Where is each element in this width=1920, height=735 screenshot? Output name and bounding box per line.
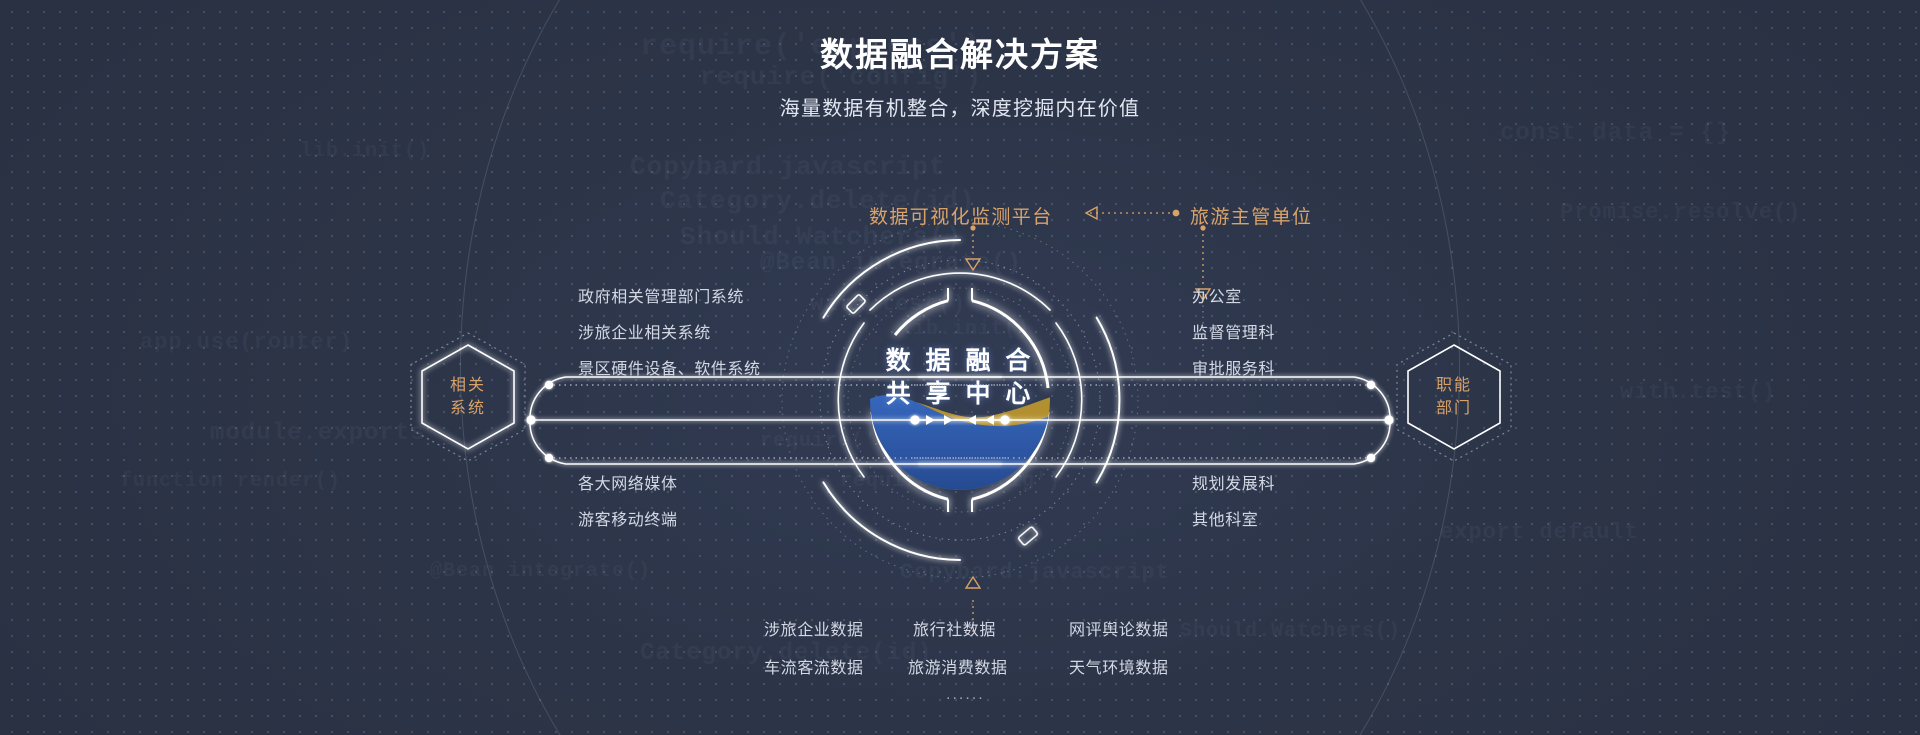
hexagon-right-label: 职能 部门 <box>1392 330 1516 464</box>
data-fusion-hub: 数 据 融 合 共 享 中 心 <box>760 200 1160 600</box>
background-code-line: const data = {} <box>1500 120 1731 147</box>
label-tourism-authority[interactable]: 旅游主管单位 <box>1190 202 1312 229</box>
background-code-line: @Bean integrate() <box>430 560 651 583</box>
label-visualization-platform[interactable]: 数据可视化监测平台 <box>869 202 1053 229</box>
label-right-upper-2[interactable]: 审批服务科 <box>1192 355 1275 379</box>
page-title: 数据融合解决方案 <box>0 34 1920 75</box>
hub-sphere <box>860 300 1060 500</box>
background-code-line: with.test() <box>1620 380 1776 405</box>
label-right-lower-1[interactable]: 其他科室 <box>1192 506 1258 530</box>
hexagon-functional-departments[interactable]: 职能 部门 <box>1392 330 1516 464</box>
background-code-line: Should.Watchers() <box>1180 620 1401 643</box>
label-left-upper-2[interactable]: 景区硬件设备、软件系统 <box>578 355 761 379</box>
label-bottom-r2-0[interactable]: 车流客流数据 <box>764 654 864 678</box>
label-left-lower-0[interactable]: 各大网络媒体 <box>578 470 678 494</box>
label-left-upper-0[interactable]: 政府相关管理部门系统 <box>578 283 744 307</box>
label-bottom-r2-2[interactable]: 天气环境数据 <box>1069 654 1169 678</box>
label-right-upper-1[interactable]: 监督管理科 <box>1192 319 1275 343</box>
infographic-canvas: require('express')require('config')Copyb… <box>0 0 1920 735</box>
label-bottom-r2-1[interactable]: 旅游消费数据 <box>908 654 1008 678</box>
label-bottom-more: ...... <box>946 686 985 704</box>
page-subtitle: 海量数据有机整合，深度挖掘内在价值 <box>0 92 1920 121</box>
hexagon-left-label: 相关 系统 <box>406 330 530 464</box>
hexagon-left-line1: 相关 <box>450 374 486 397</box>
label-bottom-r1-2[interactable]: 网评舆论数据 <box>1069 616 1169 640</box>
label-left-lower-1[interactable]: 游客移动终端 <box>578 506 678 530</box>
hexagon-right-line1: 职能 <box>1436 374 1472 397</box>
header: 数据融合解决方案 海量数据有机整合，深度挖掘内在价值 <box>0 34 1920 121</box>
label-right-lower-0[interactable]: 规划发展科 <box>1192 470 1275 494</box>
hexagon-right-line2: 部门 <box>1436 397 1472 420</box>
hexagon-related-systems[interactable]: 相关 系统 <box>406 330 530 464</box>
hexagon-left-line2: 系统 <box>450 397 486 420</box>
label-bottom-r1-1[interactable]: 旅行社数据 <box>913 616 996 640</box>
background-code-line: lib.init() <box>300 140 430 163</box>
hub-rings <box>760 200 1160 600</box>
label-right-upper-0[interactable]: 办公室 <box>1192 283 1242 307</box>
background-code-line: export default <box>1440 520 1639 545</box>
label-left-upper-1[interactable]: 涉旅企业相关系统 <box>578 319 711 343</box>
background-code-line: Copybard.javascript <box>630 152 945 182</box>
background-code-line: Promise.resolve() <box>1560 200 1801 225</box>
background-code-line: module.exports <box>210 420 426 447</box>
background-code-line: function render() <box>120 470 341 493</box>
background-code-line: app.use(router) <box>140 330 353 355</box>
label-bottom-r1-0[interactable]: 涉旅企业数据 <box>764 616 864 640</box>
